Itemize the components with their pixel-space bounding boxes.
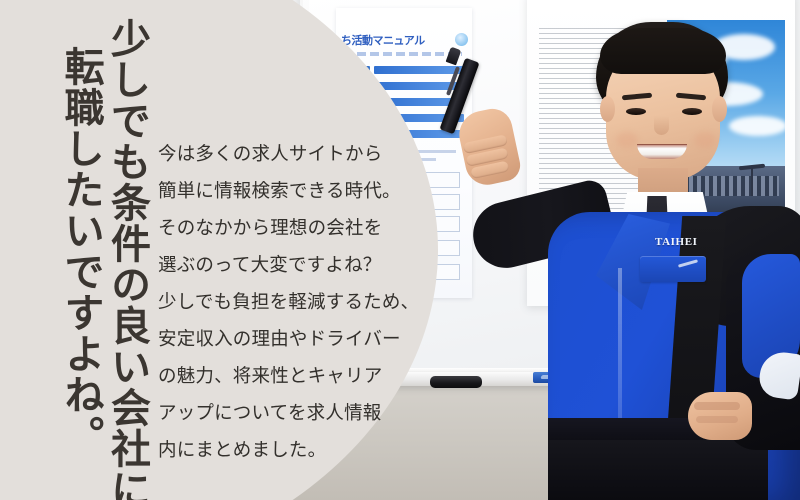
body-line: アップについてを求人情報: [158, 395, 426, 432]
hand-holding-marker: [455, 105, 523, 189]
cheek-left: [616, 132, 638, 148]
body-copy: 今は多くの求人サイトから 簡単に情報検索できる時代。 そのなかから理想の会社を …: [158, 136, 426, 469]
ear-right: [712, 96, 727, 122]
body-line: 簡単に情報検索できる時代。: [158, 173, 426, 210]
hand-on-hip: [688, 392, 752, 440]
marker-tip: [446, 47, 462, 66]
body-line: 少しでも負担を軽減するため、: [158, 284, 426, 321]
body-line: 今は多くの求人サイトから: [158, 136, 426, 173]
uniform-logo: TAIHEI: [655, 236, 698, 248]
smiling-mouth: [637, 144, 687, 159]
body-line: 選ぶのって大変ですよね？: [158, 247, 426, 284]
ear-left: [600, 96, 615, 122]
body-line: 内にまとめました。: [158, 432, 426, 469]
cheek-right: [694, 132, 716, 148]
banner-image: ち活動マニュアル: [0, 0, 800, 500]
nose: [654, 116, 669, 135]
body-line: 安定収入の理由やドライバー: [158, 321, 426, 358]
body-line: の魅力、将来性とキャリア: [158, 358, 426, 395]
eye-right: [682, 108, 702, 115]
eye-left: [626, 108, 646, 115]
headline: 少しでも条件の良い会社に 転職したいですよね。: [28, 18, 148, 488]
hair-fringe: [600, 28, 726, 74]
body-line: そのなかから理想の会社を: [158, 210, 426, 247]
trousers: [548, 440, 768, 500]
headline-column-2: 転職したいですよね。: [59, 46, 101, 456]
headline-column-1: 少しでも条件の良い会社に: [106, 18, 148, 500]
